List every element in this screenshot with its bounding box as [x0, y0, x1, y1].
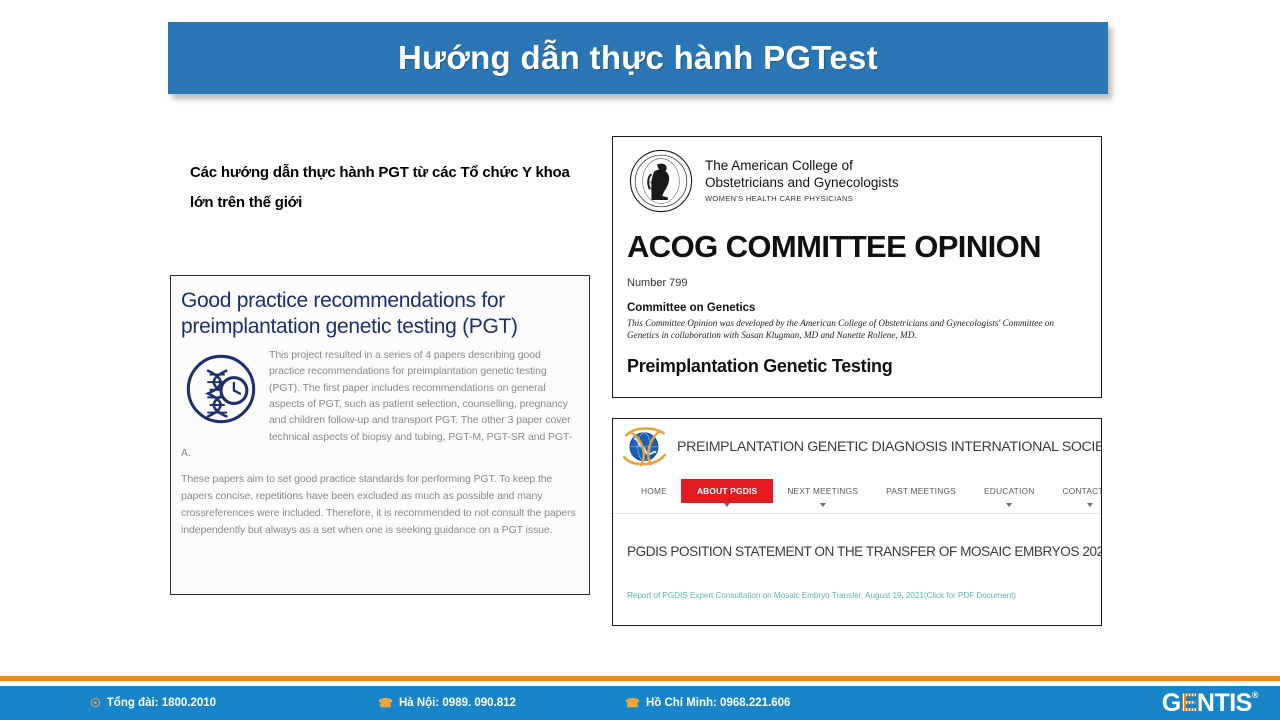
footer-contact-hotline-label: Tổng đài: 1800.2010: [107, 697, 216, 709]
acog-org-line-1: The American College of: [705, 158, 899, 174]
pgdis-globe-icon: [619, 425, 671, 469]
footer-contact-hotline: ☉ Tổng đài: 1800.2010: [90, 697, 216, 709]
pgdis-nav-bar: HOMEABOUT PGDISNEXT MEETINGSPAST MEETING…: [613, 473, 1101, 514]
headset-icon: ☉: [90, 697, 101, 709]
pgdis-nav-item-label: CONTACT US: [1062, 486, 1102, 496]
pgdis-website-panel: PREIMPLANTATION GENETIC DIAGNOSIS INTERN…: [612, 418, 1102, 626]
dna-clock-icon: [183, 351, 259, 427]
footer-contact-hanoi-label: Hà Nội: 0989. 090.812: [399, 697, 516, 709]
eshre-paragraph-1: This project resulted in a series of 4 p…: [269, 347, 579, 445]
acog-committee-name: Committee on Genetics: [627, 302, 1087, 314]
slide-title-text: Hướng dẫn thực hành PGTest: [398, 39, 878, 77]
pgdis-nav-item-about-pgdis[interactable]: ABOUT PGDIS: [681, 479, 773, 503]
acog-title: ACOG COMMITTEE OPINION: [627, 229, 1087, 265]
pgdis-nav-item-home[interactable]: HOME: [627, 479, 681, 503]
acog-seal-icon: 1951: [627, 147, 695, 215]
pgdis-nav-item-education[interactable]: EDUCATION: [970, 479, 1049, 503]
acog-org-tagline: WOMEN'S HEALTH CARE PHYSICIANS: [705, 194, 899, 203]
eshre-heading: Good practice recommendations for preimp…: [181, 288, 579, 339]
slide-title-banner: Hướng dẫn thực hành PGTest: [168, 22, 1108, 94]
pgdis-nav-item-next-meetings[interactable]: NEXT MEETINGS: [773, 479, 872, 503]
intro-paragraph: Các hướng dẫn thực hành PGT từ các Tổ ch…: [190, 158, 590, 218]
phone-icon: ☎: [625, 697, 640, 709]
eshre-good-practice-panel: Good practice recommendations for preimp…: [170, 275, 590, 595]
acog-committee-opinion-panel: 1951 The American College of Obstetricia…: [612, 136, 1102, 398]
footer-contact-hcm-label: Hồ Chí Minh: 0968.221.606: [646, 697, 790, 709]
pgdis-nav-item-label: HOME: [641, 486, 667, 496]
footer-contact-hanoi: ☎ Hà Nội: 0989. 090.812: [378, 697, 516, 709]
acog-number: Number 799: [627, 277, 1087, 289]
eshre-paragraph-1-tail: A.: [181, 445, 579, 461]
eshre-paragraph-2: These papers aim to set good practice st…: [181, 471, 579, 539]
pgdis-header-row: PREIMPLANTATION GENETIC DIAGNOSIS INTERN…: [613, 419, 1101, 473]
pgdis-nav-item-label: NEXT MEETINGS: [787, 486, 858, 496]
acog-org-line-2: Obstetricians and Gynecologists: [705, 175, 899, 191]
acog-org-name-block: The American College of Obstetricians an…: [705, 158, 899, 203]
gentis-logo-part-3: NTIS: [1197, 689, 1252, 718]
chevron-down-icon: [1087, 503, 1093, 507]
acog-header-row: 1951 The American College of Obstetricia…: [627, 147, 1087, 215]
acog-subject-title: Preimplantation Genetic Testing: [627, 356, 1087, 377]
pgdis-report-link[interactable]: Report of PGDIS Expert Consultation on M…: [613, 591, 1101, 600]
acog-credit-note: This Committee Opinion was developed by …: [627, 317, 1087, 342]
chevron-down-icon: [724, 503, 730, 507]
slide-canvas: Hướng dẫn thực hành PGTest Các hướng dẫn…: [0, 0, 1280, 720]
pgdis-nav-item-contact-us[interactable]: CONTACT US: [1048, 479, 1102, 503]
footer-contact-hcm: ☎ Hồ Chí Minh: 0968.221.606: [625, 697, 790, 709]
eshre-content-row: This project resulted in a series of 4 p…: [181, 347, 579, 445]
phone-icon: ☎: [378, 697, 393, 709]
gentis-logo-part-2: E: [1181, 689, 1197, 718]
footer-bar: ☉ Tổng đài: 1800.2010 ☎ Hà Nội: 0989. 09…: [0, 686, 1280, 720]
pgdis-nav-item-label: EDUCATION: [984, 486, 1035, 496]
pgdis-nav-item-past-meetings[interactable]: PAST MEETINGS: [872, 479, 970, 503]
svg-text:1951: 1951: [647, 181, 656, 185]
chevron-down-icon: [820, 503, 826, 507]
gentis-logo: G E NTIS ®: [1162, 689, 1258, 718]
pgdis-nav-item-label: ABOUT PGDIS: [697, 486, 757, 496]
gentis-logo-registered: ®: [1252, 691, 1258, 700]
pgdis-nav-item-label: PAST MEETINGS: [886, 486, 956, 496]
chevron-down-icon: [1006, 503, 1012, 507]
gentis-logo-part-1: G: [1162, 689, 1181, 718]
pgdis-org-name: PREIMPLANTATION GENETIC DIAGNOSIS INTERN…: [677, 439, 1102, 455]
pgdis-statement-title: PGDIS POSITION STATEMENT ON THE TRANSFER…: [613, 544, 1101, 559]
footer-inner: ☉ Tổng đài: 1800.2010 ☎ Hà Nội: 0989. 09…: [0, 686, 1280, 720]
